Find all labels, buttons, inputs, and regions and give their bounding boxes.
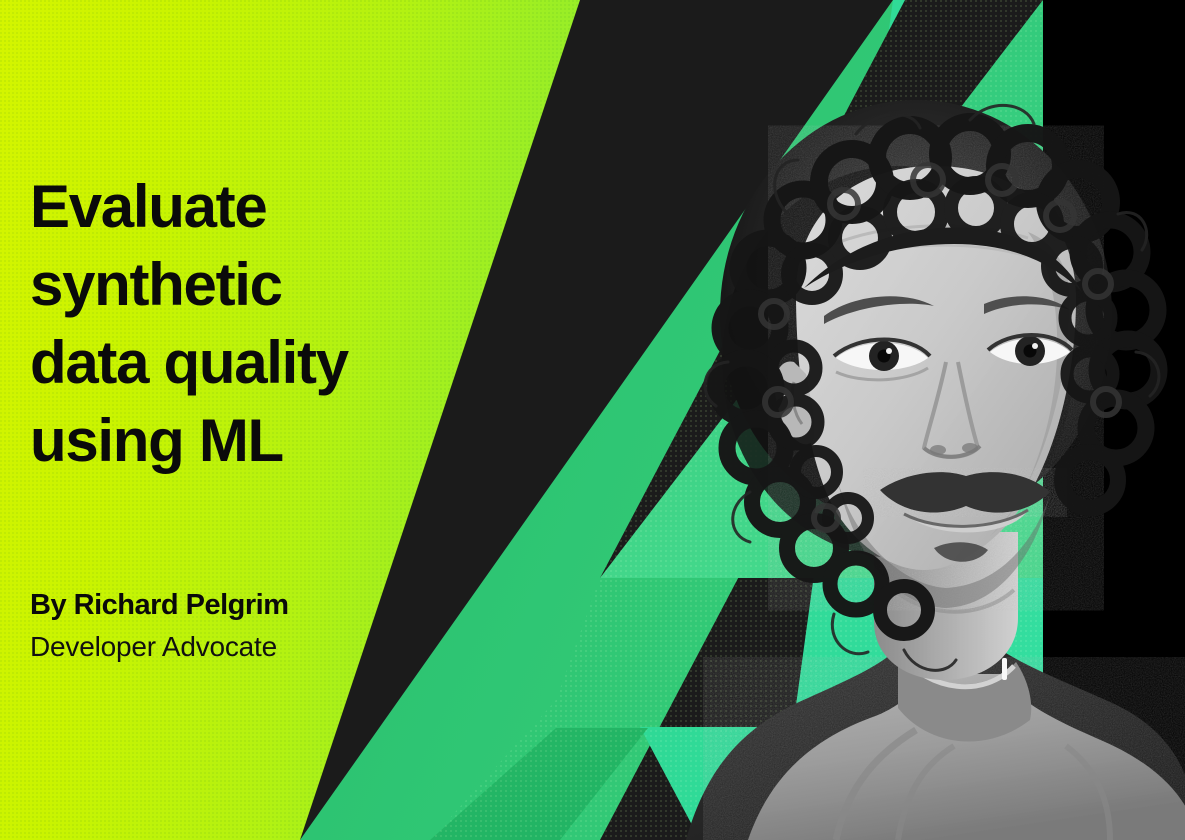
headline-block: Evaluate synthetic data quality using ML	[30, 168, 460, 480]
title-line-3: data quality	[30, 324, 460, 402]
title-card: Evaluate synthetic data quality using ML…	[0, 0, 1185, 840]
author-role: Developer Advocate	[30, 626, 460, 668]
portrait-photo	[598, 62, 1185, 840]
title-line-2: synthetic	[30, 246, 460, 324]
title-line-1: Evaluate	[30, 168, 460, 246]
page-title: Evaluate synthetic data quality using ML	[30, 168, 460, 480]
byline-block: By Richard Pelgrim Developer Advocate	[30, 584, 460, 668]
title-line-4: using ML	[30, 402, 460, 480]
author-name: By Richard Pelgrim	[30, 584, 460, 626]
